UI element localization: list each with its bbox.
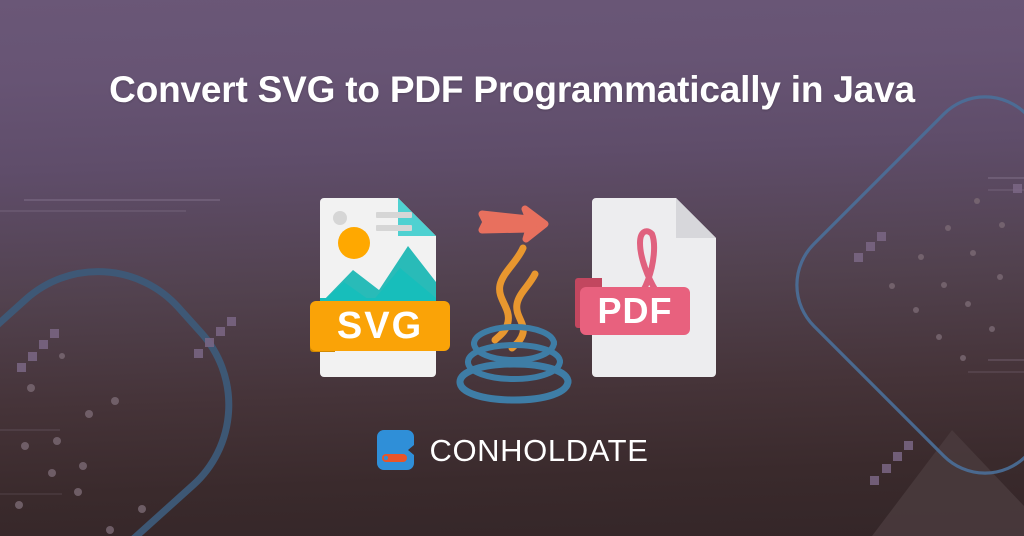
java-cup [460, 327, 568, 400]
decor-dot [59, 353, 65, 359]
decor-dot [974, 198, 980, 204]
decor-square [227, 317, 236, 326]
decor-dot [960, 355, 966, 361]
right-arrow-icon [482, 209, 545, 239]
decor-dot [74, 488, 82, 496]
java-logo-icon [460, 248, 568, 400]
decor-dot [85, 410, 93, 418]
conversion-illustration: SVG [296, 186, 736, 396]
decor-dot [999, 222, 1005, 228]
decor-dot [918, 254, 924, 260]
decor-dot [965, 301, 971, 307]
decor-square [216, 327, 225, 336]
svg-file-line-1 [376, 212, 412, 218]
svg-badge-label: SVG [337, 305, 423, 347]
decor-square [39, 340, 48, 349]
decor-dot [936, 334, 942, 340]
brand-lockup: CONHOLDATE [0, 428, 1024, 472]
logo-bar-dot [384, 456, 388, 460]
decor-dot [27, 384, 35, 392]
decor-dot [913, 307, 919, 313]
decor-dot [945, 225, 951, 231]
decor-dot [889, 283, 895, 289]
decor-square [870, 476, 879, 485]
decor-square [854, 253, 863, 262]
decor-dot [111, 397, 119, 405]
pdf-file-icon: PDF [575, 198, 716, 377]
decor-square [28, 352, 37, 361]
pdf-badge-label: PDF [598, 290, 673, 331]
svg-file-sun [338, 227, 370, 259]
left-rounded-outline [0, 227, 273, 536]
decor-dot [997, 274, 1003, 280]
java-steam-right [512, 274, 535, 348]
decor-dot [941, 282, 947, 288]
svg-file-icon: SVG [310, 198, 450, 377]
decor-dot [106, 526, 114, 534]
decor-dot [138, 505, 146, 513]
decor-square [1013, 184, 1022, 193]
logo-shape [377, 430, 414, 470]
decor-square [50, 329, 59, 338]
decor-dot [970, 250, 976, 256]
pdf-file-fold [676, 198, 716, 238]
brand-name: CONHOLDATE [429, 435, 648, 466]
conholdate-logo-mark [375, 428, 416, 472]
decor-square [194, 349, 203, 358]
decor-square [205, 338, 214, 347]
svg-file-line-2 [376, 225, 412, 231]
page-title: Convert SVG to PDF Programmatically in J… [0, 69, 1024, 111]
decor-square [866, 242, 875, 251]
svg-file-dot [333, 211, 347, 225]
decor-dot [15, 501, 23, 509]
promo-banner: Convert SVG to PDF Programmatically in J… [0, 0, 1024, 536]
decor-dot [989, 326, 995, 332]
decor-square [17, 363, 26, 372]
decor-square [877, 232, 886, 241]
